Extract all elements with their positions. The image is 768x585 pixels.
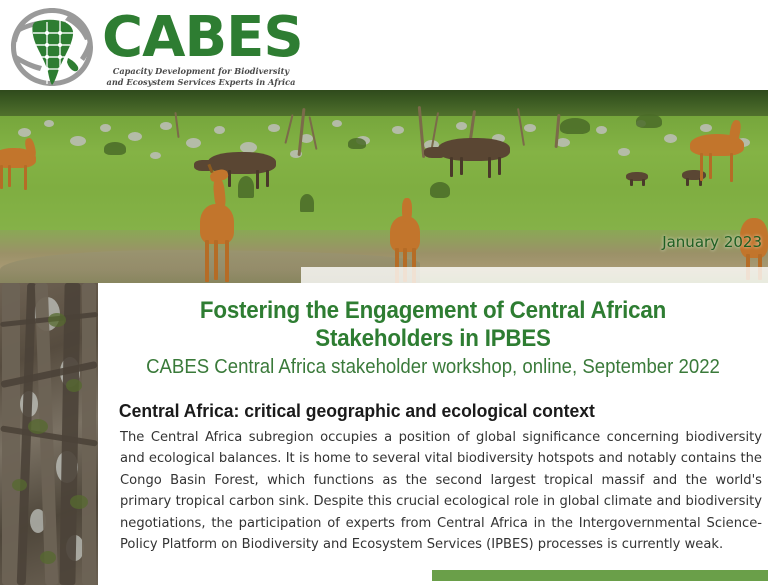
logo-tagline: Capacity Development for Biodiversity an…: [106, 66, 296, 87]
section-heading: Central Africa: critical geographic and …: [98, 401, 735, 421]
antelope: [0, 148, 36, 168]
cabes-logo: CABES Capacity Development for Biodivers…: [6, 4, 306, 88]
antelope-foreground: [390, 216, 420, 252]
publication-date: January 2023: [662, 233, 762, 251]
antelope: [690, 134, 744, 156]
antelope-foreground: [200, 204, 234, 244]
page-title: Fostering the Engagement of Central Afri…: [121, 283, 744, 353]
hero-grass: [0, 116, 768, 236]
page-header: CABES Capacity Development for Biodivers…: [0, 0, 768, 90]
warthog: [438, 138, 510, 161]
forest-side-photo: [0, 283, 98, 585]
bottom-accent-bar: [432, 570, 768, 581]
warthog-small: [626, 172, 648, 181]
page-subtitle: CABES Central Africa stakeholder worksho…: [121, 355, 744, 379]
logo-acronym: CABES: [102, 10, 303, 66]
main-content: Fostering the Engagement of Central Afri…: [98, 283, 768, 585]
body-paragraph: The Central Africa subregion occupies a …: [98, 427, 768, 555]
policy-brief-banner: POLICY BRIEF NO. 2: [301, 267, 768, 283]
africa-globe-logo-icon: [6, 6, 102, 88]
hero-photo: POLICY BRIEF NO. 2: [0, 90, 768, 283]
policy-brief-page: CABES Capacity Development for Biodivers…: [0, 0, 768, 585]
